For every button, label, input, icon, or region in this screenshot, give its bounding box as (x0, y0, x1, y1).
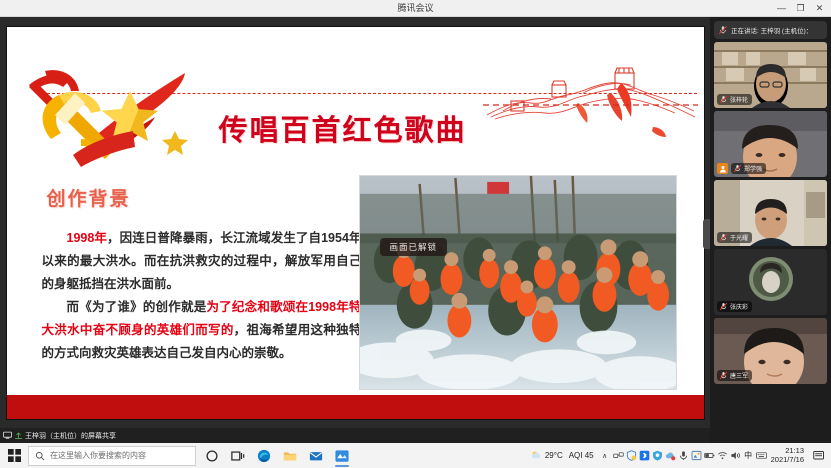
screen-share-label: 王梓羽（主机位）的屏幕共享 (25, 431, 116, 441)
system-tray: 29°C AQI 45 ∧ (530, 443, 831, 468)
mic-muted-icon (719, 233, 728, 242)
search-placeholder: 在这里输入你要搜索的内容 (50, 450, 146, 461)
battery-icon[interactable] (703, 443, 716, 468)
window-controls: — ❐ ✕ (772, 0, 829, 17)
window-title: 腾讯会议 (0, 0, 831, 17)
search-icon (35, 451, 45, 461)
flood-rescue-photo: 画面已解锁 (359, 175, 677, 390)
shared-screen-stage[interactable]: 传唱百首红色歌曲 创作背景 1998年，因连日普降暴雨，长江流域发生了自1954… (0, 17, 710, 428)
windows-start-icon[interactable] (0, 443, 28, 468)
mail-icon[interactable] (303, 443, 329, 468)
slide-paragraph-2: 而《为了谁》的创作就是为了纪念和歌颂在1998年特大洪水中奋不顾身的英雄们而写的… (42, 296, 362, 365)
search-input[interactable]: 在这里输入你要搜索的内容 (28, 446, 196, 466)
keyboard-icon[interactable] (755, 443, 768, 468)
notification-icon[interactable] (809, 443, 829, 468)
antivirus-icon[interactable] (651, 443, 664, 468)
participant-nametag: 郑学强 (731, 163, 766, 174)
host-badge-icon (717, 163, 728, 174)
maximize-restore-button[interactable]: ❐ (791, 1, 810, 16)
participant-nametag: 于光耀 (717, 232, 752, 243)
bluetooth-icon[interactable] (638, 443, 651, 468)
clock-date: 2021/7/16 (771, 456, 804, 465)
screenshot-icon[interactable] (690, 443, 703, 468)
party-emblem-icon (15, 43, 200, 168)
participant-name: 于光耀 (730, 233, 748, 242)
participant-name: 唐三军 (730, 371, 748, 380)
file-explorer-icon[interactable] (277, 443, 303, 468)
window-titlebar: 腾讯会议 — ❐ ✕ (0, 0, 831, 17)
cortana-icon[interactable] (199, 443, 225, 468)
weather-temperature[interactable]: 29°C (545, 451, 563, 460)
participant-nametag: 唐三军 (717, 370, 752, 381)
minimize-button[interactable]: — (772, 1, 791, 16)
slide-body-text: 1998年，因连日普降暴雨，长江流域发生了自1954年以来的最大洪水。而在抗洪救… (42, 227, 362, 366)
tencent-meeting-icon[interactable] (329, 443, 355, 468)
participant-tile[interactable]: 郑学强 (714, 111, 827, 177)
active-speaker-banner: 正在讲话: 王梓羽 (主机位)： (714, 21, 827, 39)
volume-icon[interactable] (729, 443, 742, 468)
participant-name: 郑学强 (744, 164, 762, 173)
mic-muted-icon (718, 25, 728, 35)
share-arrow-icon (14, 431, 23, 440)
edge-browser-icon[interactable] (251, 443, 277, 468)
participant-nametag: 张梓轮 (717, 94, 752, 105)
active-speaker-label: 正在讲话: 王梓羽 (主机位)： (731, 25, 812, 35)
mic-muted-icon (719, 95, 728, 104)
tencent-meeting-window: 腾讯会议 — ❐ ✕ (0, 0, 831, 468)
participant-tile[interactable]: 唐三军 (714, 318, 827, 384)
mic-muted-icon (719, 302, 728, 311)
highlight-year: 1998年 (67, 231, 108, 245)
network-icon[interactable] (612, 443, 625, 468)
participant-nametag: 张庆彩 (717, 301, 752, 312)
presentation-slide: 传唱百首红色歌曲 创作背景 1998年，因连日普降暴雨，长江流域发生了自1954… (7, 27, 704, 419)
wifi-icon[interactable] (716, 443, 729, 468)
participant-tile[interactable]: 于光耀 (714, 180, 827, 246)
participant-tile[interactable]: 张梓轮 (714, 42, 827, 108)
screen-share-statusbar: 王梓羽（主机位）的屏幕共享 (0, 428, 710, 443)
collapse-handle-icon[interactable] (703, 219, 710, 249)
slide-footer-bar (7, 395, 704, 419)
task-view-icon[interactable] (225, 443, 251, 468)
air-quality-index[interactable]: AQI 45 (569, 451, 594, 460)
mic-muted-icon (719, 371, 728, 380)
close-button[interactable]: ✕ (810, 1, 829, 16)
mic-muted-icon (733, 164, 742, 173)
participants-rail: 正在讲话: 王梓羽 (主机位)： 张梓轮 (710, 17, 831, 428)
monitor-icon (3, 431, 12, 440)
weather-icon[interactable] (530, 443, 543, 468)
slide-paragraph-1: 1998年，因连日普降暴雨，长江流域发生了自1954年以来的最大洪水。而在抗洪救… (42, 227, 362, 296)
participant-name: 张梓轮 (730, 95, 748, 104)
microphone-icon[interactable] (677, 443, 690, 468)
great-wall-icon (483, 45, 698, 157)
security-shield-icon[interactable] (625, 443, 638, 468)
rail-footer-spacer (710, 428, 831, 443)
taskbar-clock[interactable]: 21:13 2021/7/16 (768, 443, 809, 468)
cloud-sync-icon[interactable] (664, 443, 677, 468)
paragraph-2-pre: 而《为了谁》的创作就是 (67, 300, 207, 314)
screen-unlocked-badge: 画面已解锁 (380, 238, 448, 256)
participant-name: 张庆彩 (730, 302, 748, 311)
participant-tile[interactable]: 张庆彩 (714, 249, 827, 315)
windows-taskbar: 在这里输入你要搜索的内容 29°C AQI 45 ∧ (0, 443, 831, 468)
show-hidden-icons-button[interactable]: ∧ (598, 443, 612, 468)
ime-language-indicator[interactable]: 中 (742, 450, 755, 461)
slide-title: 传唱百首红色歌曲 (219, 107, 467, 149)
slide-section-heading: 创作背景 (47, 184, 131, 211)
